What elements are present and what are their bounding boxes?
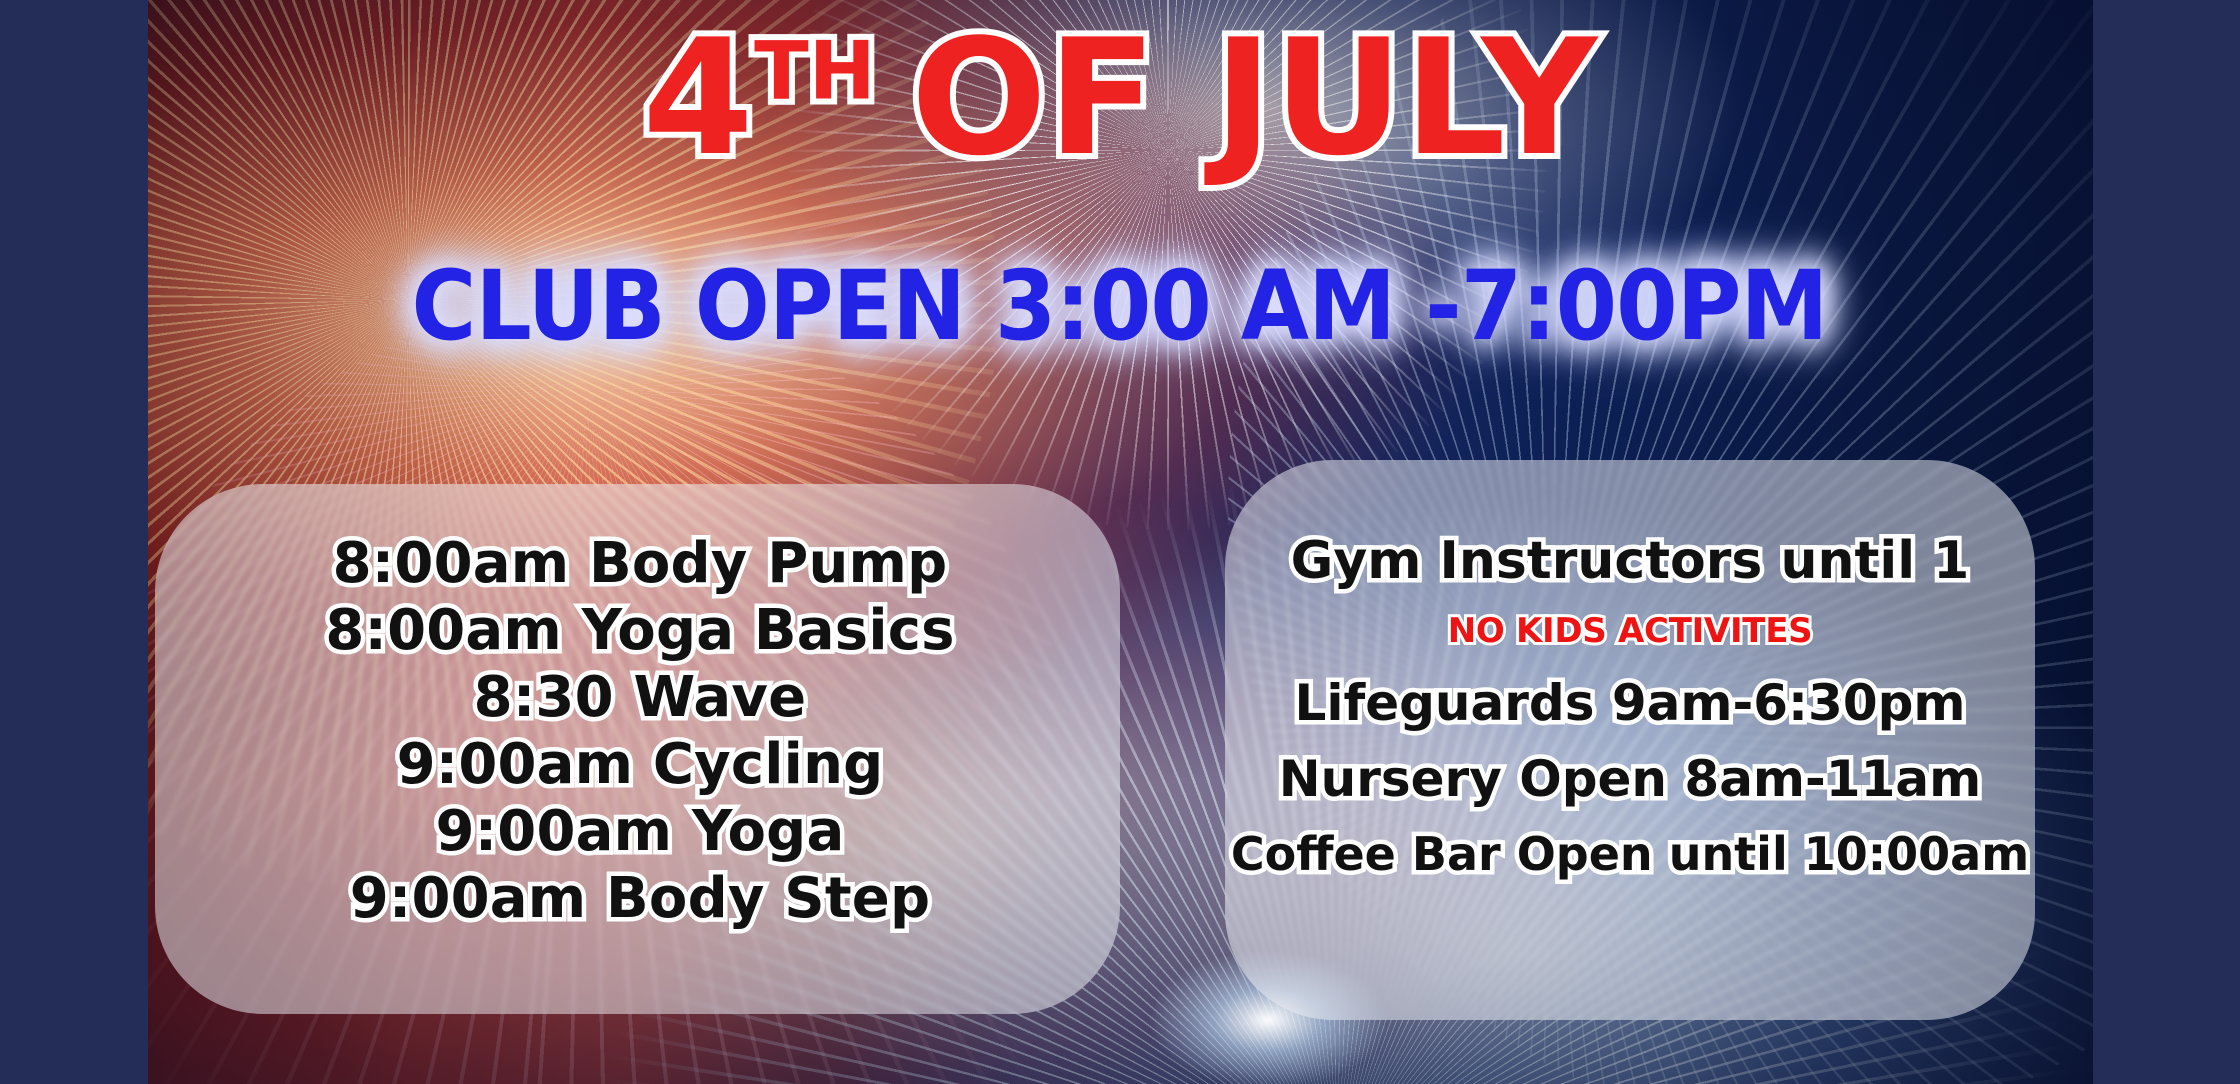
class-schedule-list: 8:00am Body Pump 8:00am Yoga Basics 8:30… (200, 530, 1080, 932)
list-item: 8:00am Yoga Basics (200, 597, 1080, 664)
club-hours-subtitle: CLUB OPEN 3:00 AM -7:00PM (412, 258, 1828, 354)
no-kids-activities-warning: NO KIDS ACTIVITES (1230, 602, 2030, 660)
facility-info-list: Gym Instructors until 1 NO KIDS ACTIVITE… (1230, 530, 2030, 896)
list-item: 8:30 Wave (200, 664, 1080, 731)
left-border-bar (0, 0, 148, 1084)
list-item: 9:00am Body Step (200, 865, 1080, 932)
gym-instructors-line: Gym Instructors until 1 (1230, 530, 2030, 592)
headline-rest: OF JULY (911, 4, 1598, 191)
list-item: 8:00am Body Pump (200, 530, 1080, 597)
page-title: 4THOF JULY (0, 18, 2240, 178)
fourth-of-july-poster: 4THOF JULY CLUB OPEN 3:00 AM -7:00PM 8:0… (0, 0, 2240, 1084)
nursery-line: Nursery Open 8am-11am (1230, 746, 2030, 812)
lifeguards-line: Lifeguards 9am-6:30pm (1230, 670, 2030, 736)
headline-number: 4 (642, 4, 754, 191)
list-item: 9:00am Cycling (200, 731, 1080, 798)
list-item: 9:00am Yoga (200, 798, 1080, 865)
right-border-bar (2093, 0, 2240, 1084)
headline-ordinal-suffix: TH (754, 25, 876, 118)
subtitle-container: CLUB OPEN 3:00 AM -7:00PM (0, 258, 2240, 354)
coffee-bar-line: Coffee Bar Open until 10:00am (1230, 822, 2030, 886)
